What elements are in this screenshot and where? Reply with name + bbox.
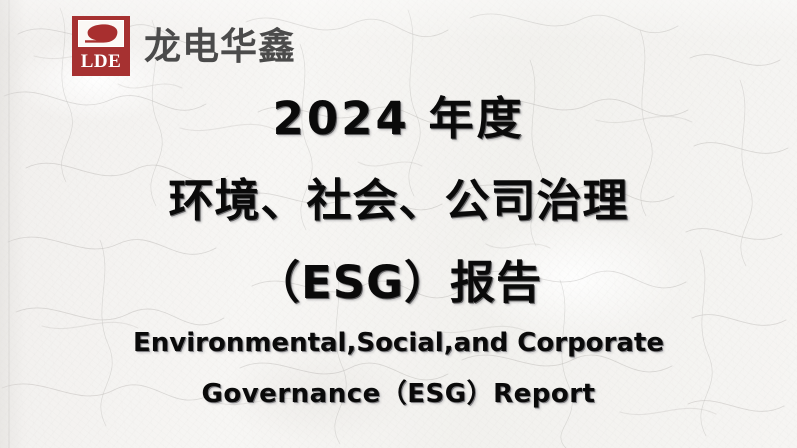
report-year-title: 2024 年度 <box>0 88 797 150</box>
report-subtitle-line-2: Governance（ESG）Report <box>0 377 797 411</box>
report-topic-title: 环境、社会、公司治理 <box>0 170 797 232</box>
company-wordmark: 龙电华鑫 <box>144 28 296 65</box>
lde-logo-icon: LDE <box>72 16 130 76</box>
cover-title-block: 2024 年度 环境、社会、公司治理 （ESG）报告 Environmental… <box>0 88 797 411</box>
red-swoosh-icon <box>83 24 119 43</box>
company-logo: LDE 龙电华鑫 <box>72 16 296 76</box>
logo-emblem-frame <box>78 20 124 47</box>
report-cover-page: LDE 龙电华鑫 2024 年度 环境、社会、公司治理 （ESG）报告 Envi… <box>0 0 797 448</box>
report-subtitle-line-1: Environmental,Social,and Corporate <box>0 326 797 360</box>
report-type-title: （ESG）报告 <box>0 252 797 314</box>
logo-letters: LDE <box>81 52 122 71</box>
